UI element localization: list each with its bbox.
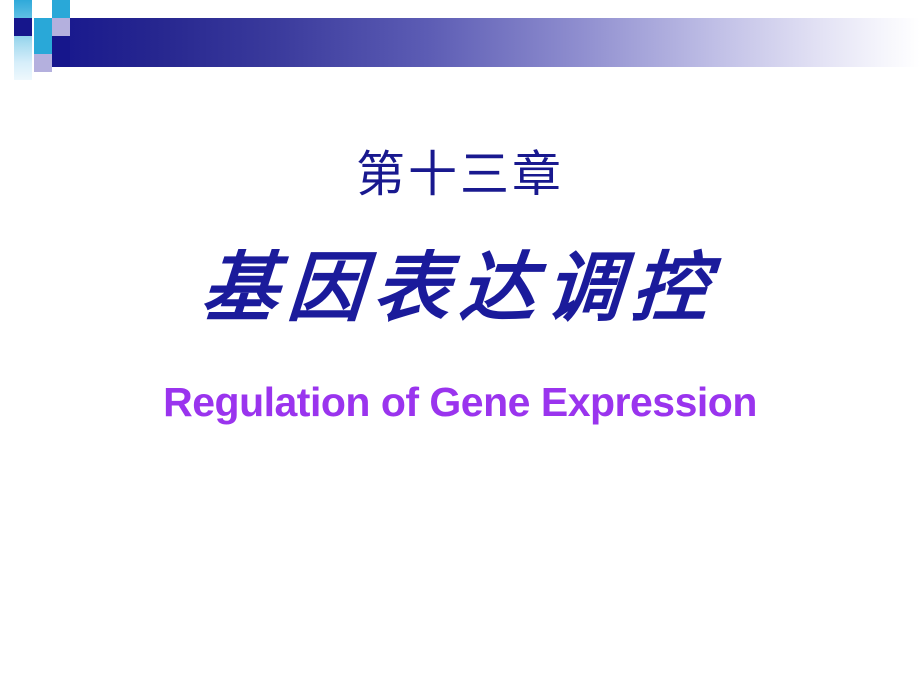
decorative-header-banner	[0, 0, 920, 92]
chapter-label: 第十三章	[0, 150, 920, 199]
header-gradient-bar	[70, 18, 920, 67]
page-title: 基因表达调控	[0, 250, 920, 326]
slide-title-block: 第十三章 基因表达调控 Regulation of Gene Expressio…	[0, 92, 920, 690]
cyan-square-lower-icon	[34, 36, 52, 54]
navy-square-left-icon	[14, 18, 32, 36]
cyan-gradient-stripe-icon	[14, 0, 32, 80]
lavender-square-mid-icon	[52, 18, 70, 36]
cyan-square-top-icon	[52, 0, 70, 18]
navy-connector-block-icon	[52, 36, 70, 67]
lavender-square-foot-icon	[34, 54, 52, 72]
cyan-square-mid-icon	[34, 18, 52, 36]
presentation-slide: 第十三章 基因表达调控 Regulation of Gene Expressio…	[0, 0, 920, 690]
page-subtitle: Regulation of Gene Expression	[0, 382, 920, 423]
